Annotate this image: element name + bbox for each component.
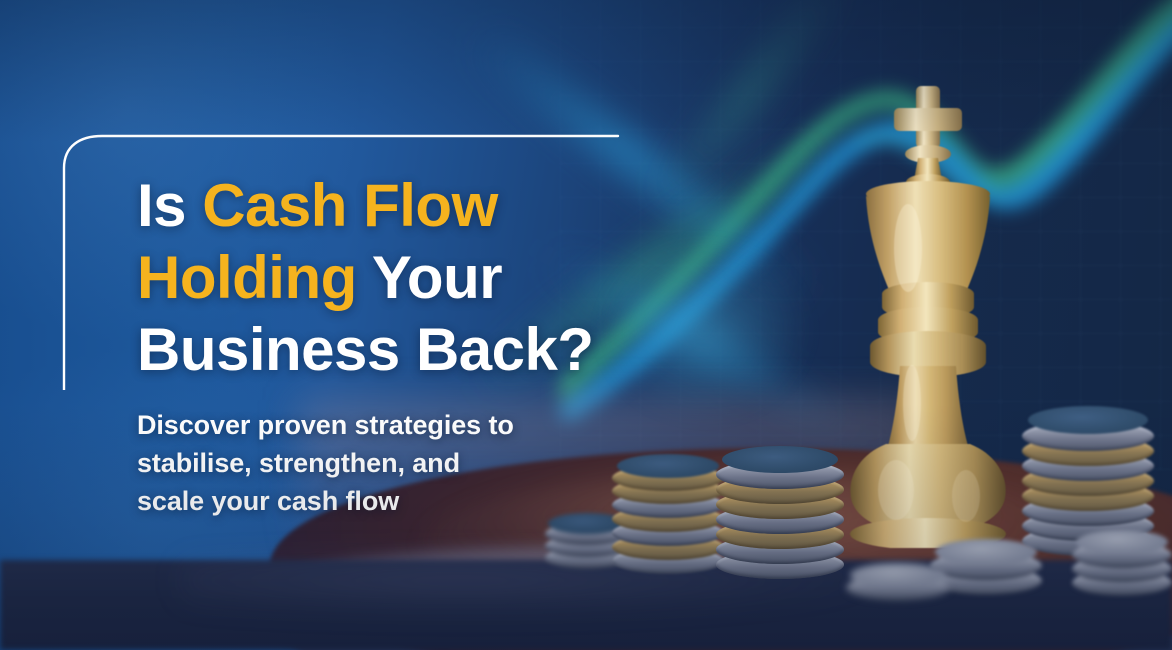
background-vignette bbox=[0, 0, 1172, 650]
cash-flow-hero-banner: Is Cash Flow Holding Your Business Back?… bbox=[0, 0, 1172, 650]
